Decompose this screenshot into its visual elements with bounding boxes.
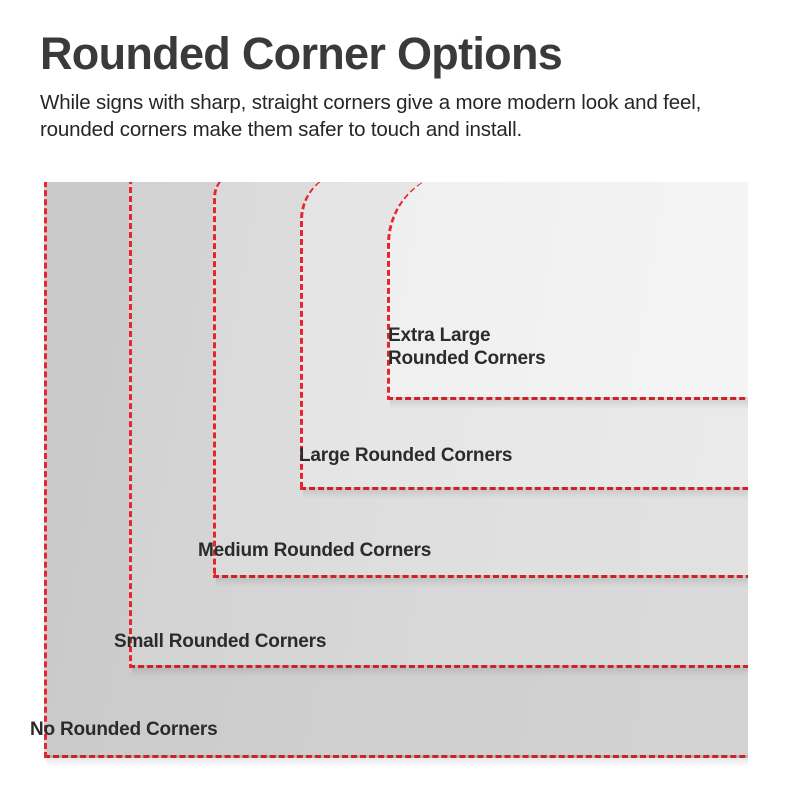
corner-label-medium: Medium Rounded Corners <box>198 539 431 562</box>
corner-label-small: Small Rounded Corners <box>114 630 326 653</box>
corner-label-large: Large Rounded Corners <box>299 444 512 467</box>
infographic-page: Rounded Corner Options While signs with … <box>0 0 800 800</box>
corner-label-xlarge: Extra Large Rounded Corners <box>388 324 545 370</box>
page-subtitle: While signs with sharp, straight corners… <box>40 89 740 144</box>
page-title: Rounded Corner Options <box>40 30 760 78</box>
corner-label-none: No Rounded Corners <box>30 718 217 741</box>
header: Rounded Corner Options While signs with … <box>40 30 760 144</box>
corner-options-diagram <box>36 182 748 782</box>
